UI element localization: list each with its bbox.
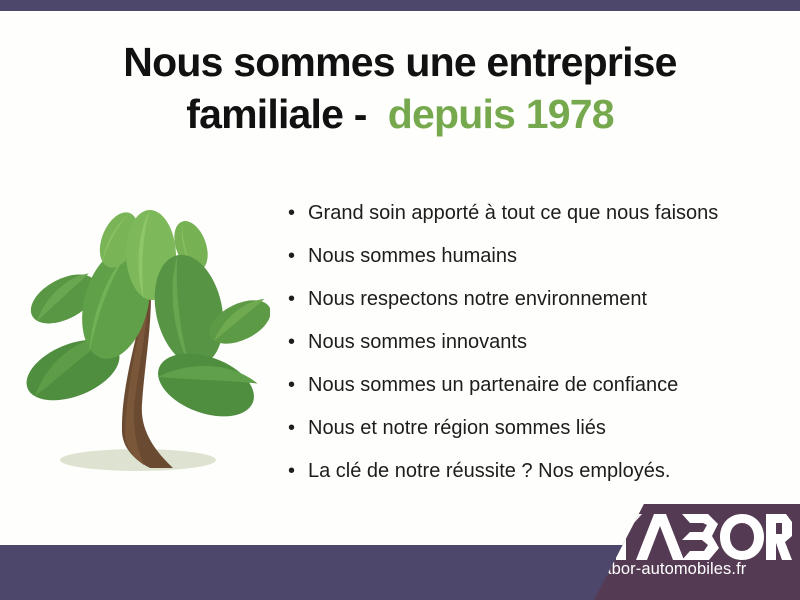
list-item-label: Nous respectons notre environnement xyxy=(308,288,647,310)
list-item: • Nous et notre région sommes liés xyxy=(286,407,786,450)
list-item: • Grand soin apporté à tout ce que nous … xyxy=(286,192,786,235)
bullet-marker-icon: • xyxy=(288,321,295,364)
bullet-marker-icon: • xyxy=(288,278,295,321)
list-item-label: Nous sommes humains xyxy=(308,245,517,267)
list-item: • Nous sommes innovants xyxy=(286,321,786,364)
bullet-marker-icon: • xyxy=(288,192,295,235)
list-item: • Nous respectons notre environnement xyxy=(286,278,786,321)
value-proposition-list: • Grand soin apporté à tout ce que nous … xyxy=(286,192,786,493)
list-item-label: Nous et notre région sommes liés xyxy=(308,417,606,439)
list-item-label: Grand soin apporté à tout ce que nous fa… xyxy=(308,202,718,224)
page-title: Nous sommes une entreprise familiale - d… xyxy=(0,36,800,140)
title-line-1: Nous sommes une entreprise xyxy=(0,36,800,88)
tree-illustration xyxy=(18,192,270,492)
list-item: • La clé de notre réussite ? Nos employé… xyxy=(286,450,786,493)
top-accent-bar xyxy=(0,0,800,11)
list-item-label: La clé de notre réussite ? Nos employés. xyxy=(308,460,670,482)
list-item: • Nous sommes un partenaire de confiance xyxy=(286,364,786,407)
bullet-marker-icon: • xyxy=(288,364,295,407)
list-item-label: Nous sommes un partenaire de confiance xyxy=(308,374,678,396)
bullet-marker-icon: • xyxy=(288,235,295,278)
list-item: • Nous sommes humains xyxy=(286,235,786,278)
bullet-marker-icon: • xyxy=(288,450,295,493)
title-line-2-prefix: familiale - xyxy=(186,91,388,137)
list-item-label: Nous sommes innovants xyxy=(308,331,527,353)
tree-leaves xyxy=(18,207,270,429)
title-accent-since: depuis 1978 xyxy=(388,91,614,137)
tabor-wordmark-logo xyxy=(596,514,792,560)
slide-canvas: Nous sommes une entreprise familiale - d… xyxy=(0,0,800,600)
title-line-2: familiale - depuis 1978 xyxy=(0,88,800,140)
bullet-marker-icon: • xyxy=(288,407,295,450)
